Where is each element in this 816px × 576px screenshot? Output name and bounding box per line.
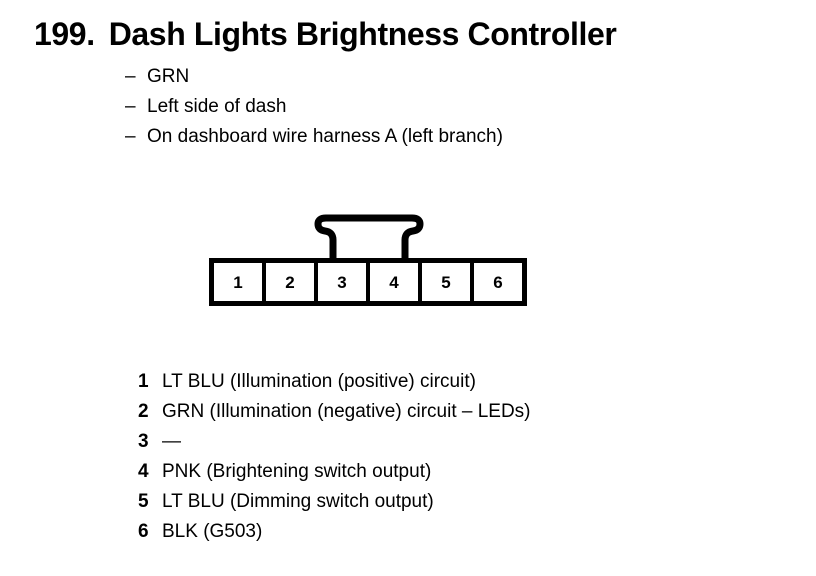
- page-title: 199. Dash Lights Brightness Controller: [34, 16, 616, 53]
- pin-legend-number: 5: [138, 491, 162, 513]
- connector-pin-number: 1: [233, 274, 242, 291]
- connector-pin-number: 4: [389, 274, 398, 291]
- description-line-text: GRN: [147, 66, 189, 88]
- connector-pin-2[interactable]: 2: [266, 263, 318, 301]
- pin-legend-number: 4: [138, 461, 162, 483]
- pin-legend-description: PNK (Brightening switch output): [162, 461, 431, 483]
- connector-pin-1[interactable]: 1: [214, 263, 266, 301]
- connector-body: 1 2 3 4 5 6: [209, 258, 527, 306]
- connector-pin-4[interactable]: 4: [370, 263, 422, 301]
- pin-legend-number: 6: [138, 521, 162, 543]
- connector-pin-number: 5: [441, 274, 450, 291]
- dash-bullet-icon: –: [125, 66, 147, 88]
- pin-legend-number: 3: [138, 431, 162, 453]
- description-line-text: On dashboard wire harness A (left branch…: [147, 126, 503, 148]
- description-line-text: Left side of dash: [147, 96, 286, 118]
- pin-legend-row: 6 BLK (G503): [138, 521, 531, 551]
- pin-legend-description: GRN (Illumination (negative) circuit – L…: [162, 401, 531, 423]
- pin-legend-number: 1: [138, 371, 162, 393]
- pin-legend-description: LT BLU (Dimming switch output): [162, 491, 434, 513]
- connector-diagram: 1 2 3 4 5 6: [205, 212, 545, 312]
- pin-legend-description: —: [162, 431, 181, 453]
- description-line: – Left side of dash: [125, 96, 503, 126]
- description-list: – GRN – Left side of dash – On dashboard…: [125, 66, 503, 156]
- pin-legend-row: 3 —: [138, 431, 531, 461]
- dash-bullet-icon: –: [125, 96, 147, 118]
- pin-legend-number: 2: [138, 401, 162, 423]
- pin-legend-description: BLK (G503): [162, 521, 262, 543]
- dash-bullet-icon: –: [125, 126, 147, 148]
- pin-legend-description: LT BLU (Illumination (positive) circuit): [162, 371, 476, 393]
- connector-pin-6[interactable]: 6: [474, 263, 522, 301]
- pin-legend-row: 4 PNK (Brightening switch output): [138, 461, 531, 491]
- pin-legend-row: 2 GRN (Illumination (negative) circuit –…: [138, 401, 531, 431]
- connector-pin-3[interactable]: 3: [318, 263, 370, 301]
- pin-legend-row: 5 LT BLU (Dimming switch output): [138, 491, 531, 521]
- connector-pin-number: 3: [337, 274, 346, 291]
- description-line: – On dashboard wire harness A (left bran…: [125, 126, 503, 156]
- page-title-text: Dash Lights Brightness Controller: [109, 16, 617, 53]
- page-title-number: 199.: [34, 16, 95, 53]
- description-line: – GRN: [125, 66, 503, 96]
- pin-legend: 1 LT BLU (Illumination (positive) circui…: [138, 371, 531, 551]
- pin-legend-row: 1 LT BLU (Illumination (positive) circui…: [138, 371, 531, 401]
- connector-pin-number: 6: [493, 274, 502, 291]
- connector-pin-5[interactable]: 5: [422, 263, 474, 301]
- connector-pin-number: 2: [285, 274, 294, 291]
